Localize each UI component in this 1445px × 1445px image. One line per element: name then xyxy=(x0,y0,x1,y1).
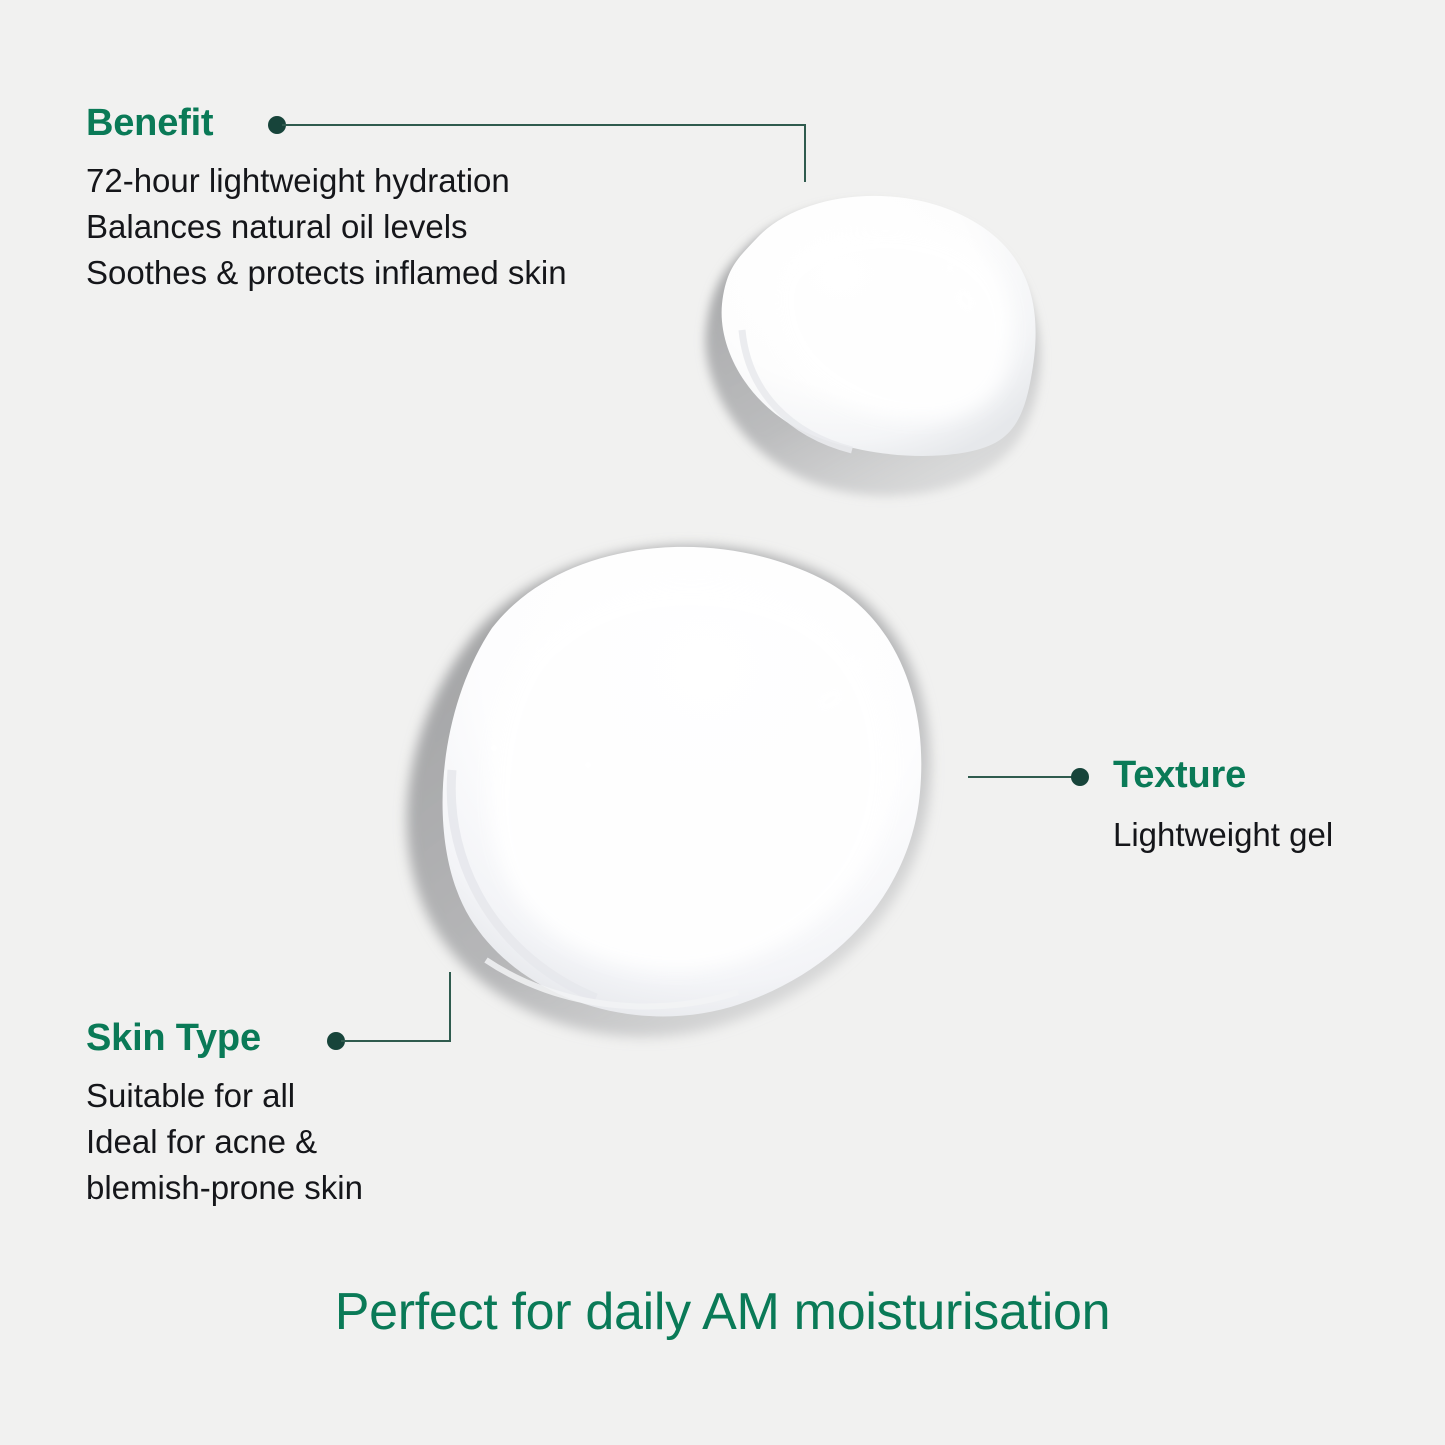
callout-benefit-line-2: Balances natural oil levels xyxy=(86,204,567,250)
tagline: Perfect for daily AM moisturisation xyxy=(0,1282,1445,1342)
callout-skin-type-lines: Suitable for all Ideal for acne & blemis… xyxy=(86,1073,363,1211)
callout-skin-type-line-1: Suitable for all xyxy=(86,1073,363,1119)
callout-texture: Texture Lightweight gel xyxy=(1113,756,1333,858)
leader-dot-texture xyxy=(1071,768,1089,786)
callout-benefit: Benefit 72-hour lightweight hydration Ba… xyxy=(86,104,567,296)
callout-skin-type-line-3: blemish-prone skin xyxy=(86,1165,363,1211)
product-callout-graphic: Benefit 72-hour lightweight hydration Ba… xyxy=(0,0,1445,1445)
callout-benefit-title: Benefit xyxy=(86,104,567,142)
callout-benefit-line-3: Soothes & protects inflamed skin xyxy=(86,250,567,296)
cream-swatch-large xyxy=(407,546,931,1037)
leader-segment-horizontal-texture xyxy=(968,776,1074,778)
leader-segment-vertical-benefit xyxy=(804,124,806,182)
callout-benefit-line-1: 72-hour lightweight hydration xyxy=(86,158,567,204)
callout-texture-title: Texture xyxy=(1113,756,1333,794)
leader-line-texture xyxy=(968,768,1098,788)
callout-texture-lines: Lightweight gel xyxy=(1113,812,1333,858)
leader-segment-vertical-skin-type xyxy=(449,972,451,1042)
callout-skin-type-line-2: Ideal for acne & xyxy=(86,1119,363,1165)
cream-swatch-small xyxy=(705,196,1040,496)
callout-skin-type: Skin Type Suitable for all Ideal for acn… xyxy=(86,1019,363,1211)
callout-skin-type-title: Skin Type xyxy=(86,1019,363,1057)
callout-benefit-lines: 72-hour lightweight hydration Balances n… xyxy=(86,158,567,296)
callout-texture-line-1: Lightweight gel xyxy=(1113,812,1333,858)
